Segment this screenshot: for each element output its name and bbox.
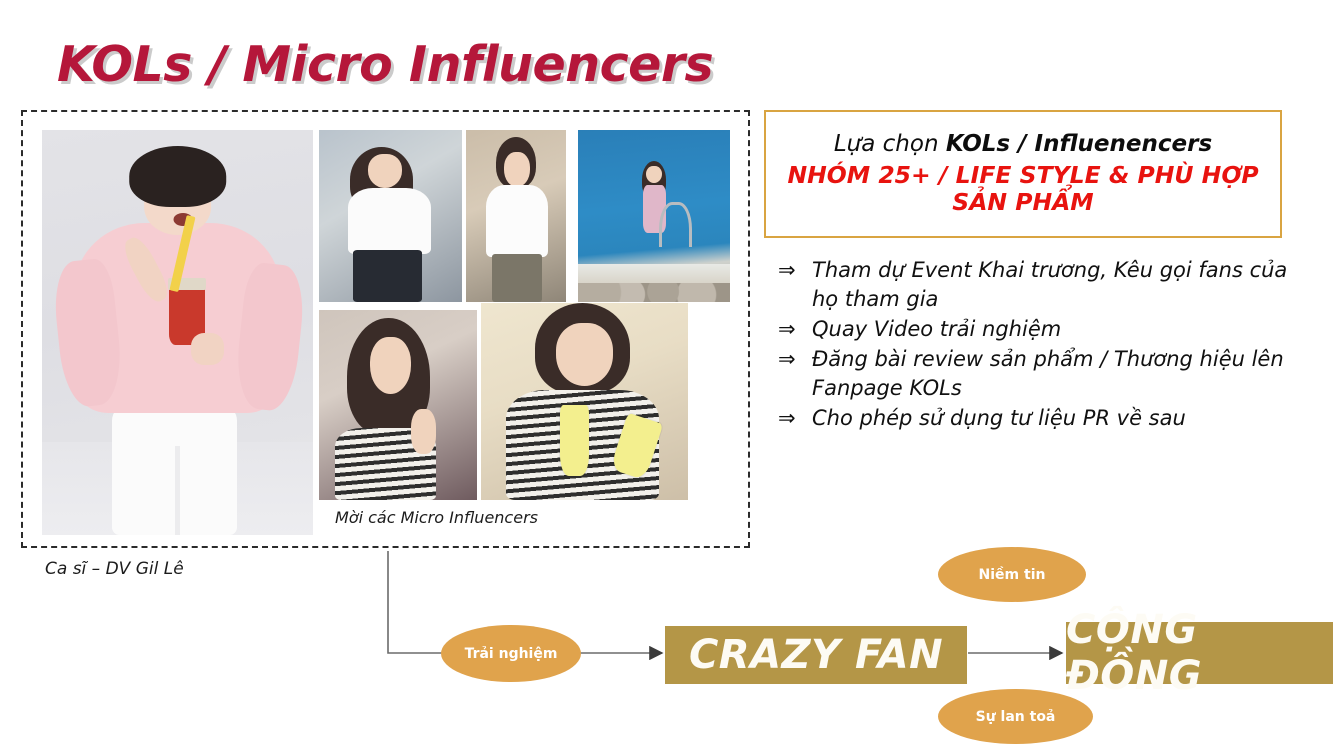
flow-node-niem-tin[interactable]: Niềm tin (938, 547, 1086, 602)
kol-activities-list: ⇒ Tham dự Event Khai trương, Kêu gọi fan… (778, 256, 1298, 434)
double-arrow-icon: ⇒ (778, 315, 812, 344)
list-item-label: Tham dự Event Khai trương, Kêu gọi fans … (812, 256, 1298, 314)
highlight-line-2b: SẢN PHẨM (787, 189, 1258, 217)
list-item-label: Cho phép sử dụng tư liệu PR về sau (812, 404, 1186, 433)
micro-influencer-photo-1 (319, 130, 462, 302)
page-title: KOLs / Micro Influencers (57, 36, 713, 93)
double-arrow-icon: ⇒ (778, 256, 812, 285)
list-item-label: Đăng bài review sản phẩm / Thương hiệu l… (812, 345, 1298, 403)
micro-influencer-photo-4 (319, 310, 477, 500)
double-arrow-icon: ⇒ (778, 345, 812, 374)
slide-canvas: KOLs / Micro Influencers (0, 0, 1333, 750)
highlight-line-1: Lựa chọn KOLs / Influenencers (834, 131, 1212, 159)
list-item: ⇒ Cho phép sử dụng tư liệu PR về sau (778, 404, 1298, 433)
list-item-label: Quay Video trải nghiệm (812, 315, 1061, 344)
list-item: ⇒ Tham dự Event Khai trương, Kêu gọi fan… (778, 256, 1298, 314)
collage-caption: Mời các Micro Influencers (335, 508, 538, 527)
hero-photo-gil-le (42, 130, 313, 535)
kol-selection-highlight-box: Lựa chọn KOLs / Influenencers NHÓM 25+ /… (764, 110, 1282, 238)
list-item: ⇒ Quay Video trải nghiệm (778, 315, 1298, 344)
flow-node-trai-nghiem[interactable]: Trải nghiệm (441, 625, 581, 682)
micro-influencer-photo-2 (466, 130, 566, 302)
flow-node-crazy-fan[interactable]: CRAZY FAN (665, 626, 967, 684)
list-item: ⇒ Đăng bài review sản phẩm / Thương hiệu… (778, 345, 1298, 403)
micro-influencer-photo-3 (578, 130, 730, 302)
double-arrow-icon: ⇒ (778, 404, 812, 433)
highlight-line-1-bold: KOLs / Influenencers (946, 131, 1212, 157)
micro-influencer-photo-5 (481, 303, 688, 500)
highlight-line-2: NHÓM 25+ / LIFE STYLE & PHÙ HỢP SẢN PHẨM (787, 162, 1258, 217)
highlight-line-1-prefix: Lựa chọn (834, 131, 946, 157)
flow-node-cong-dong[interactable]: CỘNG ĐỒNG (1066, 622, 1333, 684)
highlight-line-2a: NHÓM 25+ / LIFE STYLE & PHÙ HỢP (787, 162, 1258, 190)
hero-photo-caption: Ca sĩ – DV Gil Lê (45, 559, 184, 579)
